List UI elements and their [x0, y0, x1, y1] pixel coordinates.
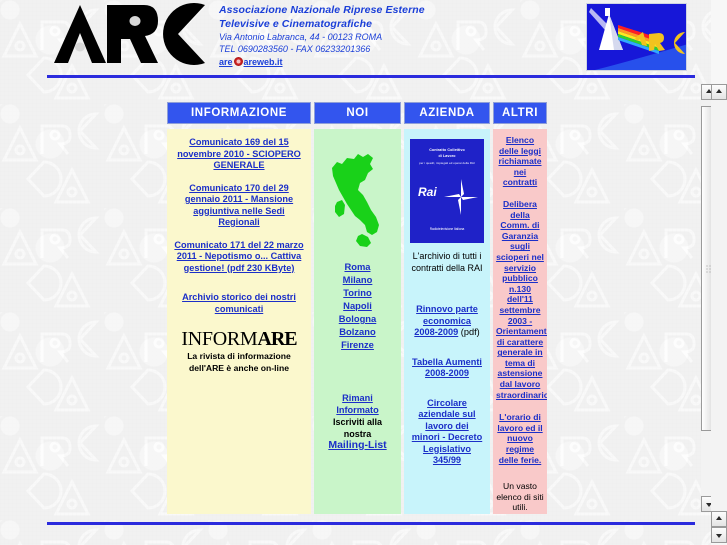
org-email[interactable]: areareweb.it [219, 56, 519, 68]
are-wordmark-logo [52, 3, 207, 65]
azienda-caption: L'archivio di tutti i contratti della RA… [410, 251, 484, 274]
informare-tagline-2: dell'ARE è anche on-line [173, 363, 305, 374]
list-item[interactable]: Rinnovo parte economica 2008-2009 (pdf) [410, 304, 484, 339]
list-item[interactable]: Circolare aziendale sul lavoro dei minor… [410, 398, 484, 467]
list-item[interactable]: Comunicato 171 del 22 marzo 2011 - Nepot… [173, 240, 305, 275]
link-circolare-minori[interactable]: Circolare aziendale sul lavoro dei minor… [412, 398, 482, 466]
column-body-informazione: Comunicato 169 del 15 novembre 2010 - SC… [167, 129, 311, 514]
list-item[interactable]: Tabella Aumenti 2008-2009 [410, 357, 484, 380]
city-link-bologna[interactable]: Bologna [320, 312, 395, 325]
column-header-azienda[interactable]: AZIENDA [404, 102, 490, 124]
email-user: are [219, 57, 233, 67]
altri-note-line-1: Un vasto [496, 481, 544, 492]
link-columns: INFORMAZIONE Comunicato 169 del 15 novem… [167, 102, 547, 514]
list-item[interactable]: L'orario di lavoro ed il nuovo regime de… [496, 412, 544, 465]
link-delibera-garanzia[interactable]: Delibera della Comm. di Garanzia sugli s… [496, 199, 547, 400]
altri-note-line-3: utili. [496, 502, 544, 513]
city-link-bolzano[interactable]: Bolzano [320, 325, 395, 338]
org-phone-fax: TEL 0690283560 - FAX 06233201366 [219, 43, 519, 55]
header-divider [47, 75, 695, 78]
link-comunicato-169[interactable]: Comunicato 169 del 15 novembre 2010 - SC… [177, 137, 301, 170]
list-item[interactable]: Archivio storico dei nostri comunicati [173, 292, 305, 315]
list-item[interactable]: Comunicato 169 del 15 novembre 2010 - SC… [173, 137, 305, 172]
italy-map-icon[interactable] [327, 142, 389, 254]
city-link-napoli[interactable]: Napoli [320, 299, 395, 312]
scroll-down-arrow-icon[interactable] [711, 527, 727, 543]
window-scrollbar[interactable] [711, 0, 727, 545]
column-header-altri[interactable]: ALTRI [493, 102, 547, 124]
scroll-up-arrow-icon[interactable] [711, 84, 727, 100]
email-domain-link[interactable]: areweb.it [244, 57, 283, 67]
org-address: Via Antonio Labranca, 44 - 00123 ROMA [219, 31, 519, 43]
window-scroll-track[interactable] [711, 100, 727, 511]
column-body-noi: Roma Milano Torino Napoli Bologna Bolzan… [314, 129, 401, 514]
altri-note: Un vasto elenco di siti utili. [496, 481, 544, 513]
email-link[interactable]: are [219, 57, 233, 67]
city-link-torino[interactable]: Torino [320, 286, 395, 299]
azienda-caption-line-2: contratti della RAI [410, 263, 484, 275]
column-body-azienda: Contratto Collettivo di Lavoro per i qua… [404, 129, 490, 514]
informare-banner[interactable]: INFORMARE La rivista di informazione del… [173, 329, 305, 374]
list-item[interactable]: Comunicato 170 del 29 gennaio 2011 - Man… [173, 183, 305, 229]
informare-word-right: ARE [257, 328, 296, 350]
city-link-milano[interactable]: Milano [320, 273, 395, 286]
altri-note-line-2: elenco di siti [496, 492, 544, 503]
org-name-line-1: Associazione Nazionale Riprese Esterne [219, 4, 519, 18]
column-header-noi[interactable]: NOI [314, 102, 401, 124]
are-prism-logo [586, 3, 687, 71]
rai-contract-cover-icon[interactable]: Contratto Collettivo di Lavoro per i qua… [410, 139, 484, 243]
link-archivio-comunicati[interactable]: Archivio storico dei nostri comunicati [182, 292, 296, 314]
link-rinnovo-suffix: (pdf) [461, 327, 480, 337]
org-name-line-2: Televisive e Cinematografiche [219, 18, 519, 32]
azienda-caption-line-1: L'archivio di tutti i [410, 251, 484, 263]
list-item[interactable]: Elenco delle leggi richiamate nei contra… [496, 135, 544, 188]
rai-cover-footer-1: Radiotelevisione Italiana [410, 227, 484, 232]
city-link-firenze[interactable]: Firenze [320, 338, 395, 351]
footer-divider [47, 522, 695, 525]
newsletter-text: Iscriviti alla nostra [320, 416, 395, 440]
list-item[interactable]: Delibera della Comm. di Garanzia sugli s… [496, 199, 544, 400]
scroll-up-arrow-icon[interactable] [711, 511, 727, 527]
column-informazione: INFORMAZIONE Comunicato 169 del 15 novem… [167, 102, 311, 514]
main-content: INFORMAZIONE Comunicato 169 del 15 novem… [0, 82, 710, 507]
rai-compass-icon [444, 179, 478, 215]
rai-cover-title-3: per i quadri, impiegati ed operai della … [410, 161, 484, 166]
column-altri: ALTRI Elenco delle leggi richiamate nei … [493, 102, 547, 514]
newsletter-block: Rimani Informato Iscriviti alla nostra M… [320, 393, 395, 452]
link-orario-lavoro-ferie[interactable]: L'orario di lavoro ed il nuovo regime de… [497, 412, 542, 464]
newsletter-title[interactable]: Rimani Informato [336, 393, 378, 415]
link-elenco-leggi[interactable]: Elenco delle leggi richiamate nei contra… [499, 135, 542, 187]
link-comunicato-171[interactable]: Comunicato 171 del 22 marzo 2011 - Nepot… [174, 240, 303, 273]
email-domain: areweb.it [244, 57, 283, 67]
rai-brand-text: Rai [418, 187, 437, 199]
column-azienda: AZIENDA Contratto Collettivo di Lavoro p… [404, 102, 490, 514]
link-comunicato-170[interactable]: Comunicato 170 del 29 gennaio 2011 - Man… [185, 183, 293, 228]
org-contact-block: Associazione Nazionale Riprese Esterne T… [219, 4, 519, 68]
column-body-altri: Elenco delle leggi richiamate nei contra… [493, 129, 547, 514]
at-sign-icon [234, 57, 243, 66]
city-link-roma[interactable]: Roma [320, 260, 395, 273]
column-noi: NOI Roma Milano Torino Napoli Bologna Bo… [314, 102, 401, 514]
rai-cover-title-2: di Lavoro [410, 154, 484, 159]
link-tabella-aumenti[interactable]: Tabella Aumenti 2008-2009 [412, 357, 482, 379]
informare-tagline-1: La rivista di informazione [173, 351, 305, 362]
mailing-list-link[interactable]: Mailing-List [328, 439, 386, 451]
city-links: Roma Milano Torino Napoli Bologna Bolzan… [320, 260, 395, 351]
informare-word-left: INFORM [181, 328, 257, 350]
informare-wordmark: INFORMARE [173, 329, 305, 350]
site-header: Associazione Nazionale Riprese Esterne T… [0, 0, 727, 82]
column-header-informazione[interactable]: INFORMAZIONE [167, 102, 311, 124]
rai-cover-title-1: Contratto Collettivo [410, 148, 484, 153]
page-root: Associazione Nazionale Riprese Esterne T… [0, 0, 727, 545]
